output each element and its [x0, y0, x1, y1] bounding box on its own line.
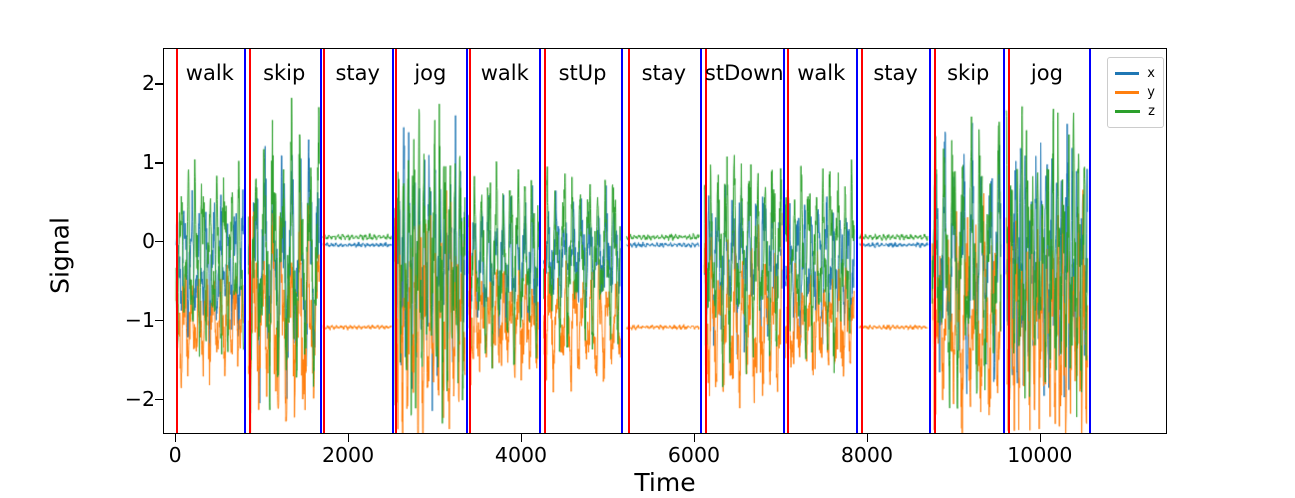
y-tick-mark	[155, 83, 163, 84]
x-axis-label: Time	[163, 468, 1167, 497]
legend-label: z	[1148, 105, 1155, 118]
x-tick-label: 2000	[322, 443, 374, 467]
y-tick-label: −1	[95, 308, 155, 332]
x-tick-label: 4000	[495, 443, 547, 467]
legend-item-z: z	[1115, 102, 1155, 121]
y-tick-mark	[155, 162, 163, 163]
y-axis-label: Signal	[46, 176, 75, 336]
signal-traces	[164, 49, 1166, 433]
x-tick-mark	[521, 434, 522, 442]
y-tick-mark	[155, 241, 163, 242]
figure-canvas: Signal 210−1−2 walkskipstayjogwalkstUpst…	[0, 0, 1295, 498]
y-tick-label: 2	[95, 71, 155, 95]
y-tick-mark	[155, 399, 163, 400]
legend-swatch-y	[1115, 91, 1139, 93]
x-tick-label: 8000	[841, 443, 893, 467]
x-tick-mark	[867, 434, 868, 442]
legend-label: x	[1147, 67, 1155, 80]
x-tick-label: 10000	[1007, 443, 1072, 467]
y-tick-label: 1	[95, 150, 155, 174]
x-tick-label: 6000	[668, 443, 720, 467]
x-tick-mark	[694, 434, 695, 442]
legend-item-x: x	[1115, 64, 1155, 83]
x-tick-mark	[1040, 434, 1041, 442]
y-tick-label: −2	[95, 387, 155, 411]
legend-label: y	[1147, 86, 1155, 99]
y-tick-mark	[155, 320, 163, 321]
legend-item-y: y	[1115, 83, 1155, 102]
x-tick-mark	[348, 434, 349, 442]
x-tick-label: 0	[169, 443, 182, 467]
legend-swatch-z	[1115, 110, 1140, 112]
plot-area: walkskipstayjogwalkstUpstaystDownwalksta…	[163, 48, 1167, 434]
y-tick-label: 0	[95, 229, 155, 253]
x-tick-mark	[175, 434, 176, 442]
legend: xyz	[1107, 57, 1164, 128]
legend-swatch-x	[1115, 72, 1139, 74]
